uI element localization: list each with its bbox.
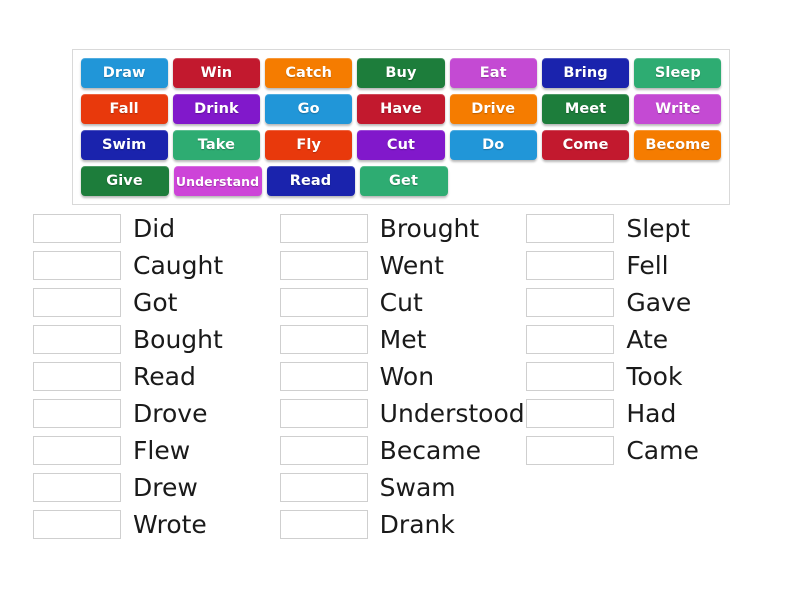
answer-row: Did [33, 213, 280, 243]
answer-column-3: SleptFellGaveAteTookHadCame [526, 213, 773, 546]
answer-row: Became [280, 435, 527, 465]
word-tile-get[interactable]: Get [360, 166, 448, 196]
answer-label-fell: Fell [626, 251, 668, 280]
word-tile-meet[interactable]: Meet [542, 94, 629, 124]
drop-slot-went[interactable] [280, 251, 368, 280]
drop-slot-had[interactable] [526, 399, 614, 428]
drop-slot-caught[interactable] [33, 251, 121, 280]
answer-label-met: Met [380, 325, 427, 354]
answer-row: Bought [33, 324, 280, 354]
word-tile-read[interactable]: Read [267, 166, 355, 196]
answer-label-got: Got [133, 288, 177, 317]
drop-slot-cut[interactable] [280, 288, 368, 317]
word-tile-sleep[interactable]: Sleep [634, 58, 721, 88]
answer-row: Drank [280, 509, 527, 539]
word-tile-become[interactable]: Become [634, 130, 721, 160]
answer-column-2: BroughtWentCutMetWonUnderstoodBecameSwam… [280, 213, 527, 546]
answer-row: Understood [280, 398, 527, 428]
answer-label-swam: Swam [380, 473, 456, 502]
drop-slot-understood[interactable] [280, 399, 368, 428]
answer-row: Brought [280, 213, 527, 243]
word-tile-eat[interactable]: Eat [450, 58, 537, 88]
word-tile-bring[interactable]: Bring [542, 58, 629, 88]
answer-label-brought: Brought [380, 214, 480, 243]
answer-label-won: Won [380, 362, 434, 391]
answer-row: Drew [33, 472, 280, 502]
word-tile-swim[interactable]: Swim [81, 130, 168, 160]
tile-row: GiveUnderstandReadGet [78, 164, 724, 198]
word-tile-draw[interactable]: Draw [81, 58, 168, 88]
answer-row: Fell [526, 250, 773, 280]
tile-row: DrawWinCatchBuyEatBringSleep [78, 56, 724, 90]
word-tile-drive[interactable]: Drive [450, 94, 537, 124]
drop-slot-swam[interactable] [280, 473, 368, 502]
answer-columns-area: DidCaughtGotBoughtReadDroveFlewDrewWrote… [33, 213, 773, 546]
word-tile-fall[interactable]: Fall [81, 94, 168, 124]
drop-slot-slept[interactable] [526, 214, 614, 243]
word-tile-have[interactable]: Have [357, 94, 444, 124]
answer-label-drank: Drank [380, 510, 455, 539]
answer-row: Came [526, 435, 773, 465]
answer-label-ate: Ate [626, 325, 668, 354]
answer-label-gave: Gave [626, 288, 691, 317]
drop-slot-wrote[interactable] [33, 510, 121, 539]
answer-label-wrote: Wrote [133, 510, 207, 539]
word-tile-do[interactable]: Do [450, 130, 537, 160]
word-tile-buy[interactable]: Buy [357, 58, 444, 88]
answer-row: Gave [526, 287, 773, 317]
answer-row: Slept [526, 213, 773, 243]
drop-slot-met[interactable] [280, 325, 368, 354]
word-bank-panel: DrawWinCatchBuyEatBringSleepFallDrinkGoH… [72, 49, 730, 205]
answer-label-caught: Caught [133, 251, 223, 280]
word-tile-win[interactable]: Win [173, 58, 260, 88]
word-tile-catch[interactable]: Catch [265, 58, 352, 88]
answer-label-drew: Drew [133, 473, 198, 502]
tile-row: SwimTakeFlyCutDoComeBecome [78, 128, 724, 162]
drop-slot-ate[interactable] [526, 325, 614, 354]
answer-row: Drove [33, 398, 280, 428]
drop-slot-flew[interactable] [33, 436, 121, 465]
answer-row: Swam [280, 472, 527, 502]
answer-label-flew: Flew [133, 436, 190, 465]
drop-slot-fell[interactable] [526, 251, 614, 280]
word-tile-write[interactable]: Write [634, 94, 721, 124]
drop-slot-gave[interactable] [526, 288, 614, 317]
answer-row: Won [280, 361, 527, 391]
drop-slot-drove[interactable] [33, 399, 121, 428]
answer-label-slept: Slept [626, 214, 690, 243]
answer-row: Read [33, 361, 280, 391]
drop-slot-became[interactable] [280, 436, 368, 465]
answer-label-read: Read [133, 362, 196, 391]
answer-label-became: Became [380, 436, 481, 465]
answer-row: Met [280, 324, 527, 354]
answer-row: Caught [33, 250, 280, 280]
word-tile-come[interactable]: Come [542, 130, 629, 160]
word-tile-go[interactable]: Go [265, 94, 352, 124]
answer-label-cut: Cut [380, 288, 423, 317]
word-tile-give[interactable]: Give [81, 166, 169, 196]
answer-row: Went [280, 250, 527, 280]
answer-row: Had [526, 398, 773, 428]
answer-row: Flew [33, 435, 280, 465]
answer-label-went: Went [380, 251, 444, 280]
word-tile-understand[interactable]: Understand [174, 166, 262, 196]
answer-row: Took [526, 361, 773, 391]
drop-slot-bought[interactable] [33, 325, 121, 354]
answer-label-bought: Bought [133, 325, 223, 354]
drop-slot-came[interactable] [526, 436, 614, 465]
answer-label-drove: Drove [133, 399, 207, 428]
drop-slot-won[interactable] [280, 362, 368, 391]
word-tile-fly[interactable]: Fly [265, 130, 352, 160]
answer-label-took: Took [626, 362, 682, 391]
answer-column-1: DidCaughtGotBoughtReadDroveFlewDrewWrote [33, 213, 280, 546]
drop-slot-drank[interactable] [280, 510, 368, 539]
word-tile-take[interactable]: Take [173, 130, 260, 160]
word-tile-cut[interactable]: Cut [357, 130, 444, 160]
drop-slot-did[interactable] [33, 214, 121, 243]
drop-slot-drew[interactable] [33, 473, 121, 502]
answer-label-had: Had [626, 399, 676, 428]
word-tile-drink[interactable]: Drink [173, 94, 260, 124]
answer-row: Cut [280, 287, 527, 317]
tile-row: FallDrinkGoHaveDriveMeetWrite [78, 92, 724, 126]
drop-slot-got[interactable] [33, 288, 121, 317]
answer-label-came: Came [626, 436, 699, 465]
answer-row: Ate [526, 324, 773, 354]
answer-label-understood: Understood [380, 399, 525, 428]
answer-row: Wrote [33, 509, 280, 539]
drop-slot-brought[interactable] [280, 214, 368, 243]
drop-slot-took[interactable] [526, 362, 614, 391]
answer-label-did: Did [133, 214, 175, 243]
answer-row: Got [33, 287, 280, 317]
drop-slot-read[interactable] [33, 362, 121, 391]
